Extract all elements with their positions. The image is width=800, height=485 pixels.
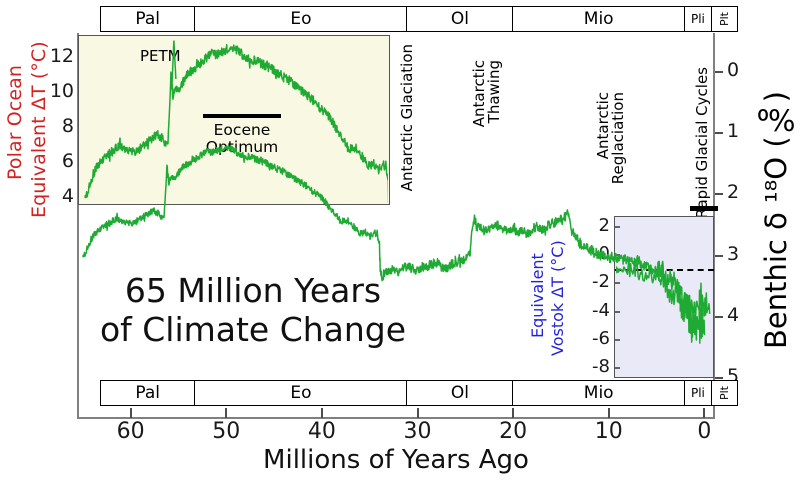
- climate-curve: [0, 0, 800, 485]
